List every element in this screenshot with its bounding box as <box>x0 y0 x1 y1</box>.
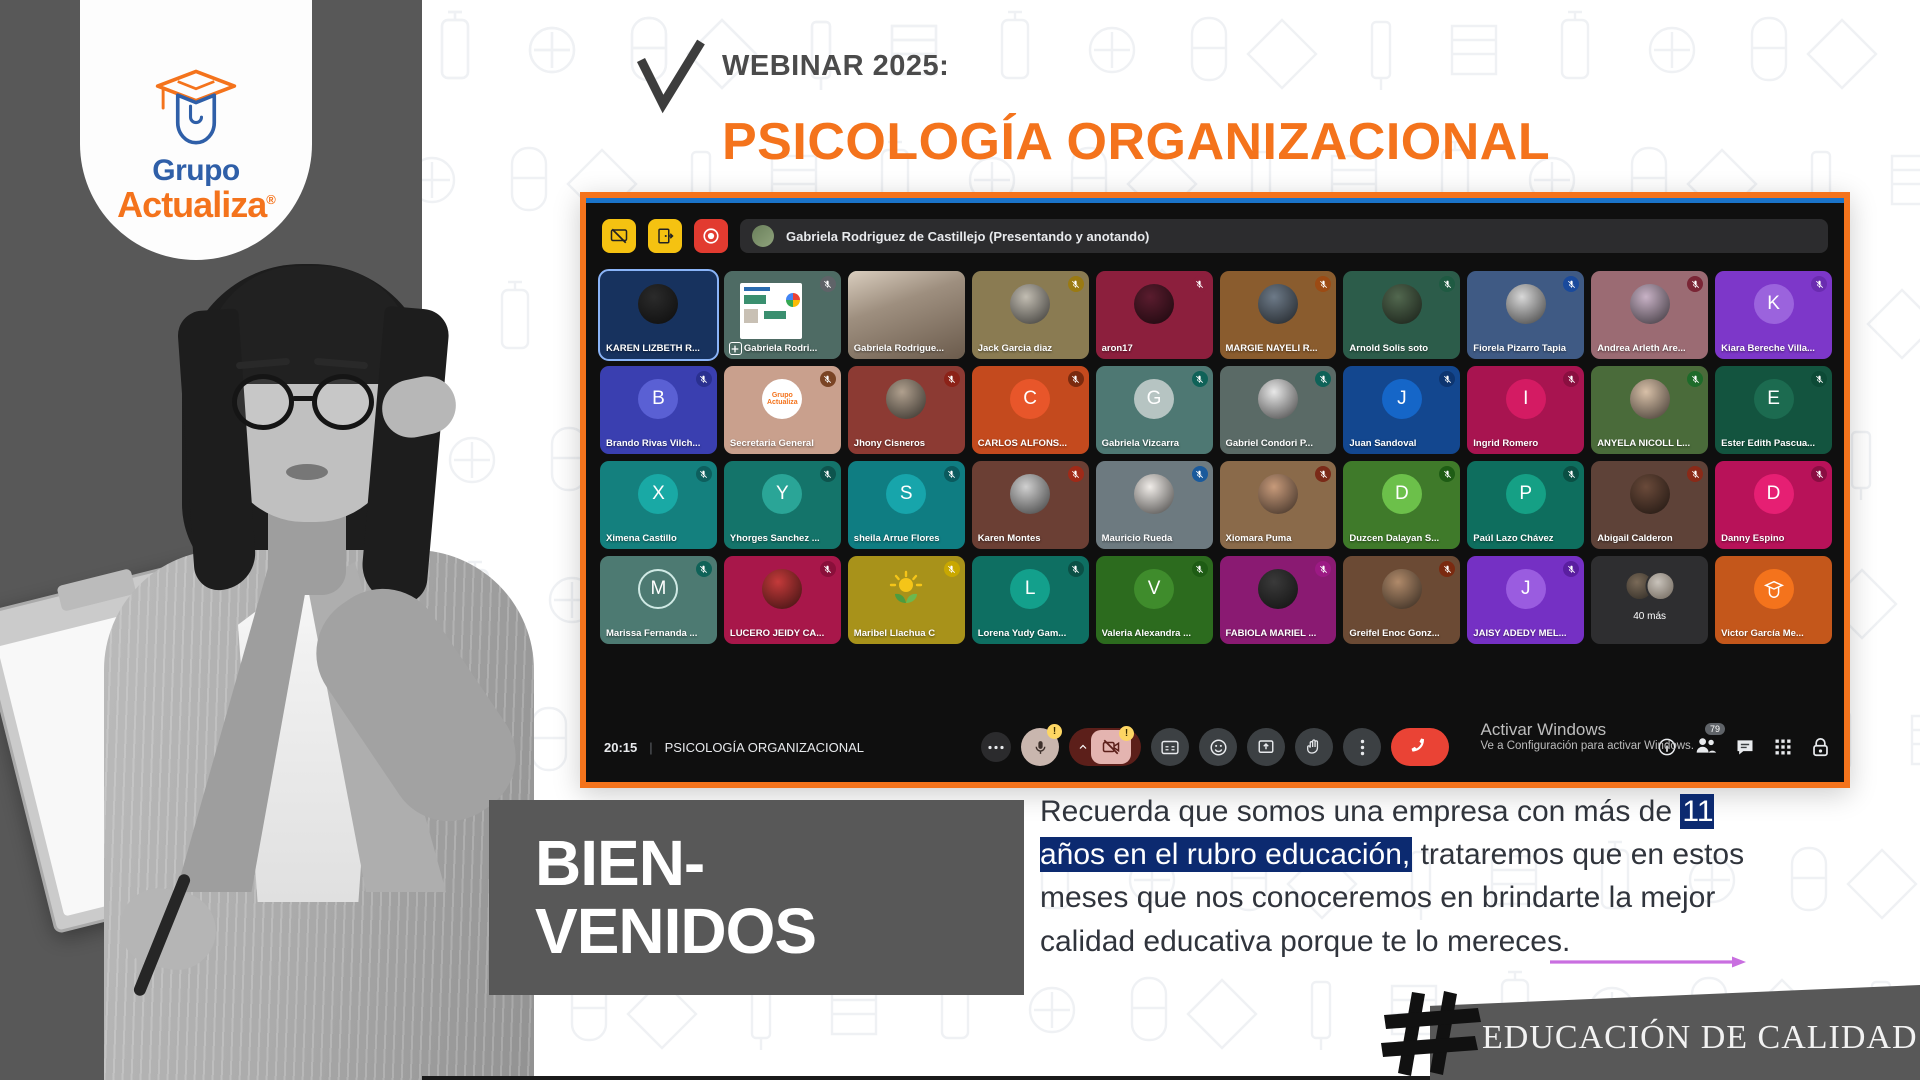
avatar: X <box>638 474 678 514</box>
participant-name: Arnold Solis soto <box>1349 343 1454 354</box>
avatar <box>1258 379 1298 419</box>
participant-name: Victor García Me... <box>1721 628 1826 639</box>
participant-name: Kiara Bereche Villa... <box>1721 343 1826 354</box>
description-paragraph: Recuerda que somos una empresa con más d… <box>1040 790 1760 963</box>
slide-canvas: Grupo Actualiza® WEBINAR 2025: PSICOLOGÍ… <box>0 0 1920 1080</box>
participant-name: Ingrid Romero <box>1473 438 1578 449</box>
paragraph-part-1: Recuerda que somos una empresa con más d… <box>1040 795 1680 828</box>
record-stop-icon[interactable] <box>694 219 728 253</box>
avatar: D <box>1382 474 1422 514</box>
participant-name: Jhony Cisneros <box>854 438 959 449</box>
mic-muted-icon <box>944 466 960 482</box>
mic-muted-icon <box>696 466 712 482</box>
avatar-logo-sun <box>886 569 926 609</box>
meeting-right-icons: 79 <box>1657 735 1830 760</box>
graduation-cap-shield-icon <box>150 66 242 150</box>
chat-icon[interactable] <box>1735 737 1755 757</box>
avatar <box>1630 474 1670 514</box>
participants-button[interactable]: 79 <box>1695 735 1717 760</box>
avatar <box>1010 474 1050 514</box>
mic-muted-icon <box>944 371 960 387</box>
participant-tile[interactable]: Jhony Cisneros <box>848 366 965 454</box>
participant-tile[interactable]: G Gabriela Vizcarra <box>1096 366 1213 454</box>
participant-tile[interactable]: B Brando Rivas Vilch... <box>600 366 717 454</box>
avatar: C <box>1010 379 1050 419</box>
camera-off-icon[interactable]: ! <box>1091 730 1131 764</box>
avatar: J <box>1382 379 1422 419</box>
participant-name: Mauricio Rueda <box>1102 533 1207 544</box>
host-lock-icon[interactable] <box>1811 737 1830 758</box>
participant-name: Gabriela Rodrigue... <box>854 343 959 354</box>
avatar: B <box>638 379 678 419</box>
participant-name: Karen Montes <box>978 533 1083 544</box>
participant-count-badge: 79 <box>1705 723 1725 735</box>
participant-name: Yhorges Sanchez ... <box>730 533 835 544</box>
more-participants-count: 40 más <box>1591 611 1708 622</box>
participant-tile[interactable]: Xiomara Puma <box>1220 461 1337 549</box>
avatar: M <box>638 569 678 609</box>
camera-warning-badge: ! <box>1119 726 1134 741</box>
participant-tile[interactable]: P Paúl Lazo Chávez <box>1467 461 1584 549</box>
mic-muted-icon <box>1192 276 1208 292</box>
chevron-up-icon <box>1077 741 1089 753</box>
mic-muted-icon <box>1811 276 1827 292</box>
avatar <box>1134 474 1174 514</box>
participant-tile[interactable]: 40 más <box>1591 556 1708 644</box>
avatar <box>1630 284 1670 324</box>
participant-tile[interactable]: Greifel Enoc Gonz... <box>1343 556 1460 644</box>
mic-muted-icon <box>1687 466 1703 482</box>
avatar: E <box>1754 379 1794 419</box>
participant-tile[interactable]: L Lorena Yudy Gam... <box>972 556 1089 644</box>
participant-name: ANYELA NICOLL L... <box>1597 438 1702 449</box>
mic-muted-icon <box>820 466 836 482</box>
emoji-icon[interactable] <box>1199 728 1237 766</box>
participant-name: Juan Sandoval <box>1349 438 1454 449</box>
participant-name: Ester Edith Pascua... <box>1721 438 1826 449</box>
mic-muted-icon <box>1192 371 1208 387</box>
participant-tile[interactable]: Gabriela Rodrigue... <box>848 271 965 359</box>
mic-muted-icon <box>1687 371 1703 387</box>
participant-tile[interactable]: E Ester Edith Pascua... <box>1715 366 1832 454</box>
avatar: J <box>1506 569 1546 609</box>
raise-hand-icon[interactable] <box>1295 728 1333 766</box>
participant-name: Gabriel Condori P... <box>1226 438 1331 449</box>
participant-name: Lorena Yudy Gam... <box>978 628 1083 639</box>
avatar <box>1258 474 1298 514</box>
participant-name: Ximena Castillo <box>606 533 711 544</box>
avatar: D <box>1754 474 1794 514</box>
participant-tile[interactable]: LUCERO JEIDY CA... <box>724 556 841 644</box>
avatar: G <box>1134 379 1174 419</box>
avatar-logo-orange <box>1754 569 1794 609</box>
participant-tile[interactable]: X Ximena Castillo <box>600 461 717 549</box>
participant-tile[interactable]: Victor García Me... <box>1715 556 1832 644</box>
avatar <box>1134 284 1174 324</box>
participant-name: Andrea Arleth Are... <box>1597 343 1702 354</box>
hangup-icon[interactable] <box>1391 728 1449 766</box>
avatar: K <box>1754 284 1794 324</box>
participant-grid: KAREN LIZBETH R... Gabriela Rodri...Gabr… <box>600 271 1832 644</box>
participant-tile[interactable]: Mauricio Rueda <box>1096 461 1213 549</box>
mic-muted-icon <box>820 371 836 387</box>
meeting-title: PSICOLOGÍA ORGANIZACIONAL <box>665 740 864 755</box>
participant-name: JAISY ADEDY MEL... <box>1473 628 1578 639</box>
meeting-info-left: 20:15 | PSICOLOGÍA ORGANIZACIONAL <box>604 740 864 755</box>
mic-muted-icon <box>696 561 712 577</box>
avatar: Y <box>762 474 802 514</box>
mic-muted-icon <box>1068 371 1084 387</box>
logo-text-actualiza: Actualiza® <box>117 186 275 224</box>
mic-muted-icon <box>1563 466 1579 482</box>
participant-name: Paúl Lazo Chávez <box>1473 533 1578 544</box>
participant-name: Gabriela Rodri... <box>744 343 835 354</box>
mic-muted-icon <box>820 276 836 292</box>
participant-tile[interactable]: Andrea Arleth Are... <box>1591 271 1708 359</box>
meeting-controls: ! ! <box>981 728 1449 766</box>
participant-tile[interactable]: Y Yhorges Sanchez ... <box>724 461 841 549</box>
mic-muted-icon <box>1439 371 1455 387</box>
webinar-eyebrow: WEBINAR 2025: <box>722 50 949 83</box>
mic-muted-icon <box>1315 466 1331 482</box>
participant-name: Maribel Llachua C <box>854 628 959 639</box>
bottom-divider <box>422 1076 1432 1080</box>
avatar <box>1010 284 1050 324</box>
participant-name: Gabriela Vizcarra <box>1102 438 1207 449</box>
participant-tile[interactable]: J JAISY ADEDY MEL... <box>1467 556 1584 644</box>
participant-tile[interactable]: GrupoActualiza Secretaria General <box>724 366 841 454</box>
participant-tile[interactable]: aron17 <box>1096 271 1213 359</box>
mic-muted-icon <box>1315 561 1331 577</box>
mic-muted-icon <box>1439 466 1455 482</box>
participant-name: sheila Arrue Flores <box>854 533 959 544</box>
participant-name: Greifel Enoc Gonz... <box>1349 628 1454 639</box>
people-icon[interactable] <box>1695 735 1717 755</box>
presenter-name: Gabriela Rodriguez de Castillejo (Presen… <box>786 229 1149 244</box>
participant-tile[interactable]: ANYELA NICOLL L... <box>1591 366 1708 454</box>
vertical-dots-icon[interactable] <box>1343 728 1381 766</box>
participant-name: MARGIE NAYELI R... <box>1226 343 1331 354</box>
participant-name: Valeria Alexandra ... <box>1102 628 1207 639</box>
participant-tile[interactable]: Gabriela Rodri... <box>724 271 841 359</box>
participant-tile[interactable]: Abigail Calderon <box>1591 461 1708 549</box>
participant-tile[interactable]: Jack Garcia diaz <box>972 271 1089 359</box>
mic-muted-icon <box>1563 371 1579 387</box>
participant-tile[interactable]: MARGIE NAYELI R... <box>1220 271 1337 359</box>
logo-text-grupo: Grupo <box>152 156 240 186</box>
avatar: L <box>1010 569 1050 609</box>
participant-tile[interactable]: FABIOLA MARIEL ... <box>1220 556 1337 644</box>
pin-icon <box>729 342 742 355</box>
avatar: I <box>1506 379 1546 419</box>
mic-muted-icon <box>1315 371 1331 387</box>
mic-muted-icon <box>1192 466 1208 482</box>
check-icon <box>635 38 707 114</box>
participant-name: Jack Garcia diaz <box>978 343 1083 354</box>
exit-door-icon[interactable] <box>648 219 682 253</box>
avatar: V <box>1134 569 1174 609</box>
avatar <box>1382 284 1422 324</box>
microphone-icon[interactable]: ! <box>1021 728 1059 766</box>
participant-tile[interactable]: K Kiara Bereche Villa... <box>1715 271 1832 359</box>
participant-name: KAREN LIZBETH R... <box>606 343 711 354</box>
mic-muted-icon <box>696 371 712 387</box>
participant-tile[interactable]: C CARLOS ALFONS... <box>972 366 1089 454</box>
mic-muted-icon <box>1315 276 1331 292</box>
avatar-logo: GrupoActualiza <box>762 379 802 419</box>
participant-tile[interactable]: Karen Montes <box>972 461 1089 549</box>
logo-badge: Grupo Actualiza® <box>80 0 312 260</box>
mic-muted-icon <box>1811 371 1827 387</box>
presenter-status-pill: Gabriela Rodriguez de Castillejo (Presen… <box>740 219 1828 253</box>
participant-tile[interactable]: D Danny Espino <box>1715 461 1832 549</box>
avatar <box>1630 379 1670 419</box>
mic-muted-icon <box>820 561 836 577</box>
participant-tile[interactable]: V Valeria Alexandra ... <box>1096 556 1213 644</box>
avatar <box>1258 284 1298 324</box>
participant-name: Fiorela Pizarro Tapia <box>1473 343 1578 354</box>
mic-muted-icon <box>1439 276 1455 292</box>
registered-mark: ® <box>266 192 275 207</box>
participant-name: Marissa Fernanda ... <box>606 628 711 639</box>
participant-tile[interactable]: Maribel Llachua C <box>848 556 965 644</box>
info-icon[interactable] <box>1657 737 1677 757</box>
mic-muted-icon <box>1192 561 1208 577</box>
participant-tile[interactable]: M Marissa Fernanda ... <box>600 556 717 644</box>
mic-muted-icon <box>944 561 960 577</box>
avatar <box>1258 569 1298 609</box>
participant-name: Danny Espino <box>1721 533 1826 544</box>
participant-tile[interactable]: J Juan Sandoval <box>1343 366 1460 454</box>
mic-warning-badge: ! <box>1047 724 1062 739</box>
participant-name: Xiomara Puma <box>1226 533 1331 544</box>
presenter-avatar <box>752 225 774 247</box>
avatar <box>1506 284 1546 324</box>
stop-presenting-icon[interactable] <box>602 219 636 253</box>
mic-muted-icon <box>1687 276 1703 292</box>
participant-tile[interactable]: Arnold Solis soto <box>1343 271 1460 359</box>
mic-muted-icon <box>1068 466 1084 482</box>
activities-icon[interactable] <box>1773 737 1793 757</box>
participant-name: Abigail Calderon <box>1597 533 1702 544</box>
participant-tile[interactable]: S sheila Arrue Flores <box>848 461 965 549</box>
avatar <box>762 569 802 609</box>
more-dots-icon[interactable] <box>981 732 1011 762</box>
separator: | <box>649 740 652 755</box>
participant-name: FABIOLA MARIEL ... <box>1226 628 1331 639</box>
participant-name: Brando Rivas Vilch... <box>606 438 711 449</box>
welcome-block: BIEN- VENIDOS <box>489 800 1024 995</box>
arrow-right-icon <box>1550 955 1750 969</box>
avatar <box>886 379 926 419</box>
mic-muted-icon <box>1811 466 1827 482</box>
participant-tile[interactable]: D Duzcen Dalayan S... <box>1343 461 1460 549</box>
meet-window: Gabriela Rodriguez de Castillejo (Presen… <box>586 198 1844 782</box>
avatar <box>638 284 678 324</box>
participant-tile[interactable]: Gabriel Condori P... <box>1220 366 1337 454</box>
participant-name: LUCERO JEIDY CA... <box>730 628 835 639</box>
mic-muted-icon <box>1068 276 1084 292</box>
avatar <box>1382 569 1422 609</box>
meeting-time: 20:15 <box>604 740 637 755</box>
footer-text: EDUCACIÓN DE CALIDAD <box>1482 1019 1918 1057</box>
mic-muted-icon <box>1439 561 1455 577</box>
avatar: S <box>886 474 926 514</box>
participant-name: aron17 <box>1102 343 1207 354</box>
participant-name: Duzcen Dalayan S... <box>1349 533 1454 544</box>
welcome-line-2: VENIDOS <box>535 898 1024 965</box>
participant-tile[interactable]: Fiorela Pizarro Tapia <box>1467 271 1584 359</box>
participant-name: Secretaria General <box>730 438 835 449</box>
meet-window-frame: Gabriela Rodriguez de Castillejo (Presen… <box>580 192 1850 788</box>
avatar: P <box>1506 474 1546 514</box>
present-screen-icon[interactable] <box>1247 728 1285 766</box>
meet-bottom-bar: 20:15 | PSICOLOGÍA ORGANIZACIONAL ! <box>586 712 1844 782</box>
participant-tile[interactable]: I Ingrid Romero <box>1467 366 1584 454</box>
welcome-line-1: BIEN- <box>535 830 1024 897</box>
hashtag-brush-icon <box>1378 988 1490 1080</box>
participant-tile[interactable]: KAREN LIZBETH R... <box>600 271 717 359</box>
participant-name: CARLOS ALFONS... <box>978 438 1083 449</box>
mic-muted-icon <box>1563 276 1579 292</box>
captions-icon[interactable] <box>1151 728 1189 766</box>
camera-control-group[interactable]: ! <box>1069 728 1141 766</box>
page-title: PSICOLOGÍA ORGANIZACIONAL <box>722 112 1550 172</box>
mic-muted-icon <box>1068 561 1084 577</box>
mic-muted-icon <box>1563 561 1579 577</box>
meet-topbar: Gabriela Rodriguez de Castillejo (Presen… <box>586 208 1844 264</box>
